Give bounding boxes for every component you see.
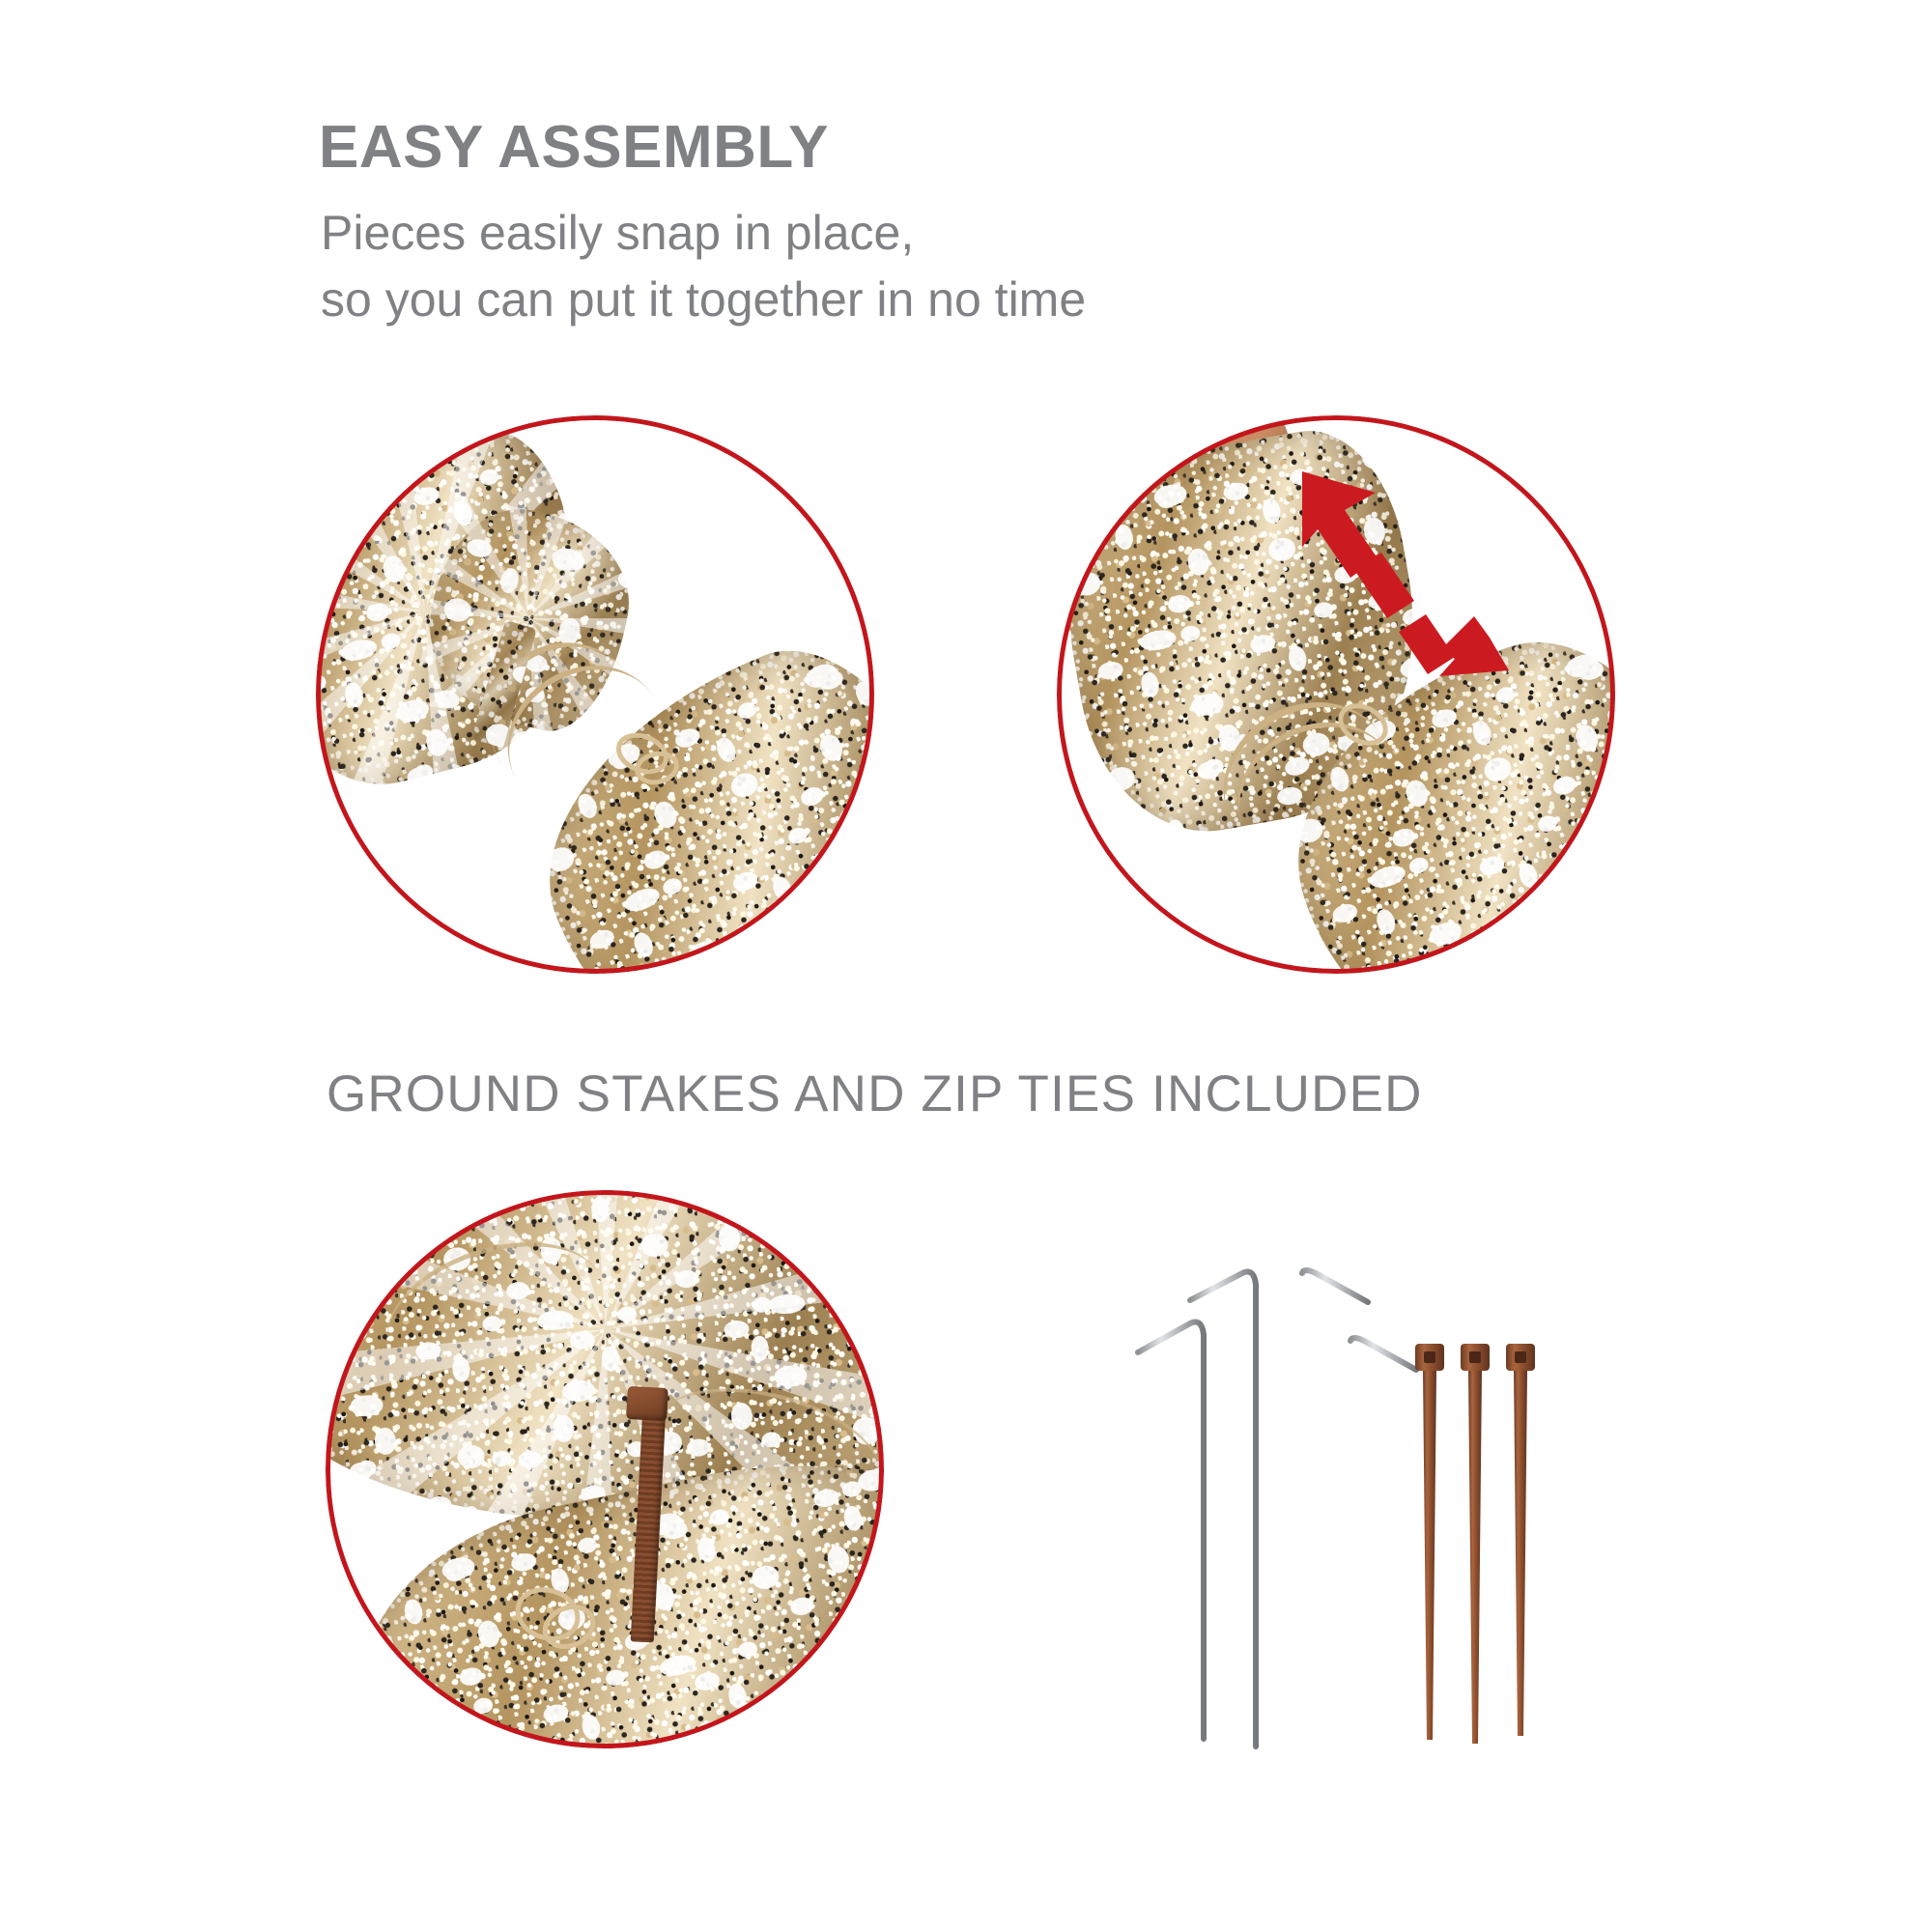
zip-tie-head [626,1386,668,1421]
callout-1-image [316,415,874,974]
callout-3-image [326,1190,884,1748]
callout-hand-snapping [1057,415,1615,974]
callout-zip-tie-attachment [326,1190,884,1748]
callout-2-image [1057,415,1615,974]
subtitle-line-1: Pieces easily snap in place, [321,209,914,257]
ground-stakes-group [1130,1246,1430,1758]
zip-ties-icon [1406,1338,1550,1753]
page-title: EASY ASSEMBLY [319,118,829,178]
infographic-canvas: EASY ASSEMBLY Pieces easily snap in plac… [0,0,1932,1932]
double-headed-arrow-icon [1294,466,1517,683]
section-heading-hardware: GROUND STAKES AND ZIP TIES INCLUDED [327,1068,1423,1120]
callout-snap-connection [316,415,874,974]
double-arrow-container [1294,466,1517,683]
ground-stakes-icon [1130,1246,1430,1758]
zip-ties-group [1406,1338,1550,1753]
subtitle-line-2: so you can put it together in no time [321,275,1086,324]
